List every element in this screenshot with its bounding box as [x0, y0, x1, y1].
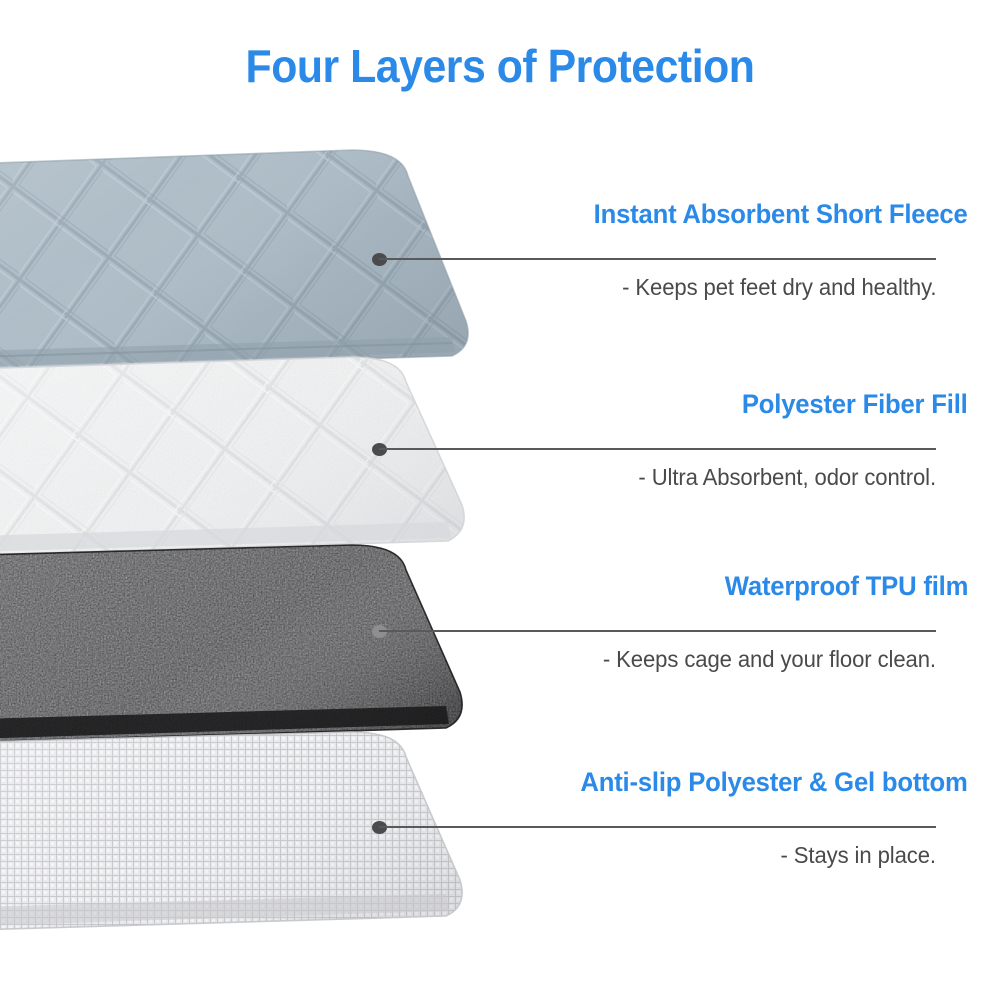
- callout-description-4: - Stays in place.: [781, 840, 936, 870]
- connector-1: [368, 252, 968, 266]
- layer-slab-2: [0, 345, 520, 575]
- callout-heading-2: Polyester Fiber Fill: [742, 388, 968, 420]
- layer-slab-3: [0, 532, 520, 758]
- infographic-canvas: Four Layers of Protection: [0, 0, 1000, 1000]
- connector-4: [368, 820, 968, 834]
- connector-line: [379, 630, 936, 632]
- callout-heading-4: Anti-slip Polyester & Gel bottom: [581, 766, 968, 798]
- callout-heading-3: Waterproof TPU film: [725, 570, 968, 602]
- callout-description-3: - Keeps cage and your floor clean.: [603, 644, 936, 674]
- callout-description-1: - Keeps pet feet dry and healthy.: [622, 272, 936, 302]
- connector-2: [368, 442, 968, 456]
- connector-line: [379, 258, 936, 260]
- connector-3: [368, 624, 968, 638]
- callout-description-2: - Ultra Absorbent, odor control.: [638, 462, 936, 492]
- callout-heading-1: Instant Absorbent Short Fleece: [594, 198, 968, 230]
- connector-line: [379, 826, 936, 828]
- connector-line: [379, 448, 936, 450]
